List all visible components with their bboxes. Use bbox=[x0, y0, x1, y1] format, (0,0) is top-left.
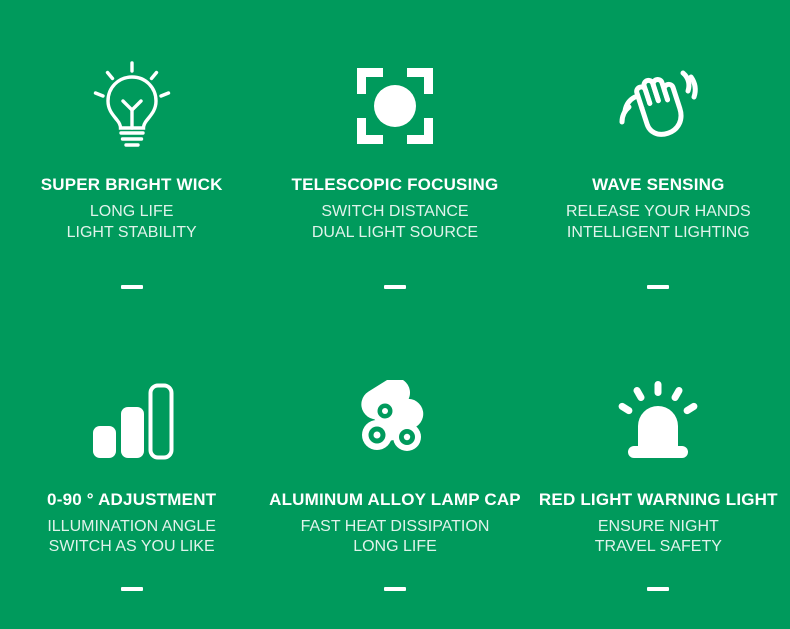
feature-subtitle-line-2: SWITCH AS YOU LIKE bbox=[47, 537, 216, 558]
feature-text-block: SUPER BRIGHT WICK LONG LIFE LIGHT STABIL… bbox=[41, 176, 223, 244]
feature-text-block: ALUMINUM ALLOY LAMP CAP FAST HEAT DISSIP… bbox=[269, 491, 521, 559]
feature-text-block: 0-90 ° ADJUSTMENT ILLUMINATION ANGLE SWI… bbox=[47, 491, 216, 559]
feature-title: 0-90 ° ADJUSTMENT bbox=[47, 491, 216, 508]
feature-subtitle-line-1: LONG LIFE bbox=[41, 202, 223, 223]
feature-text-block: RED LIGHT WARNING LIGHT ENSURE NIGHT TRA… bbox=[539, 491, 778, 559]
feature-subtitle-line-1: ILLUMINATION ANGLE bbox=[47, 517, 216, 538]
feature-subtitle-line-2: INTELLIGENT LIGHTING bbox=[566, 223, 751, 244]
bar-levels-icon bbox=[90, 373, 174, 469]
feature-card-super-bright-wick: SUPER BRIGHT WICK LONG LIFE LIGHT STABIL… bbox=[0, 0, 263, 315]
feature-card-telescopic-focusing: TELESCOPIC FOCUSING SWITCH DISTANCE DUAL… bbox=[263, 0, 526, 315]
feature-divider-dash bbox=[121, 587, 143, 591]
feature-divider-dash bbox=[647, 587, 669, 591]
feature-text-block: WAVE SENSING RELEASE YOUR HANDS INTELLIG… bbox=[566, 176, 751, 244]
feature-subtitle-line-2: DUAL LIGHT SOURCE bbox=[292, 223, 499, 244]
feature-divider-dash bbox=[647, 285, 669, 289]
feature-card-aluminum-alloy-lamp-cap: ALUMINUM ALLOY LAMP CAP FAST HEAT DISSIP… bbox=[263, 315, 526, 629]
feature-grid: SUPER BRIGHT WICK LONG LIFE LIGHT STABIL… bbox=[0, 0, 790, 629]
feature-subtitle-line-2: TRAVEL SAFETY bbox=[539, 537, 778, 558]
feature-subtitle-line-1: FAST HEAT DISSIPATION bbox=[269, 517, 521, 538]
light-bulb-icon bbox=[92, 58, 172, 154]
feature-text-block: TELESCOPIC FOCUSING SWITCH DISTANCE DUAL… bbox=[292, 176, 499, 244]
feature-divider-dash bbox=[384, 587, 406, 591]
feature-title: TELESCOPIC FOCUSING bbox=[292, 176, 499, 193]
feature-title: RED LIGHT WARNING LIGHT bbox=[539, 491, 778, 508]
feature-grid-panel: SUPER BRIGHT WICK LONG LIFE LIGHT STABIL… bbox=[0, 0, 790, 629]
feature-title: WAVE SENSING bbox=[566, 176, 751, 193]
feature-subtitle-line-1: ENSURE NIGHT bbox=[539, 517, 778, 538]
feature-subtitle-line-1: SWITCH DISTANCE bbox=[292, 202, 499, 223]
feature-card-angle-adjustment: 0-90 ° ADJUSTMENT ILLUMINATION ANGLE SWI… bbox=[0, 315, 263, 629]
feature-card-wave-sensing: WAVE SENSING RELEASE YOUR HANDS INTELLIG… bbox=[527, 0, 790, 315]
feature-subtitle-line-2: LIGHT STABILITY bbox=[41, 223, 223, 244]
alloy-tubes-icon bbox=[353, 373, 437, 469]
feature-divider-dash bbox=[384, 285, 406, 289]
feature-card-red-warning-light: RED LIGHT WARNING LIGHT ENSURE NIGHT TRA… bbox=[527, 315, 790, 629]
focus-frame-icon bbox=[355, 58, 435, 154]
feature-divider-dash bbox=[121, 285, 143, 289]
warning-beacon-icon bbox=[618, 373, 698, 469]
feature-subtitle-line-2: LONG LIFE bbox=[269, 537, 521, 558]
feature-subtitle-line-1: RELEASE YOUR HANDS bbox=[566, 202, 751, 223]
feature-title: SUPER BRIGHT WICK bbox=[41, 176, 223, 193]
waving-hand-icon bbox=[615, 58, 701, 154]
feature-title: ALUMINUM ALLOY LAMP CAP bbox=[269, 491, 521, 508]
